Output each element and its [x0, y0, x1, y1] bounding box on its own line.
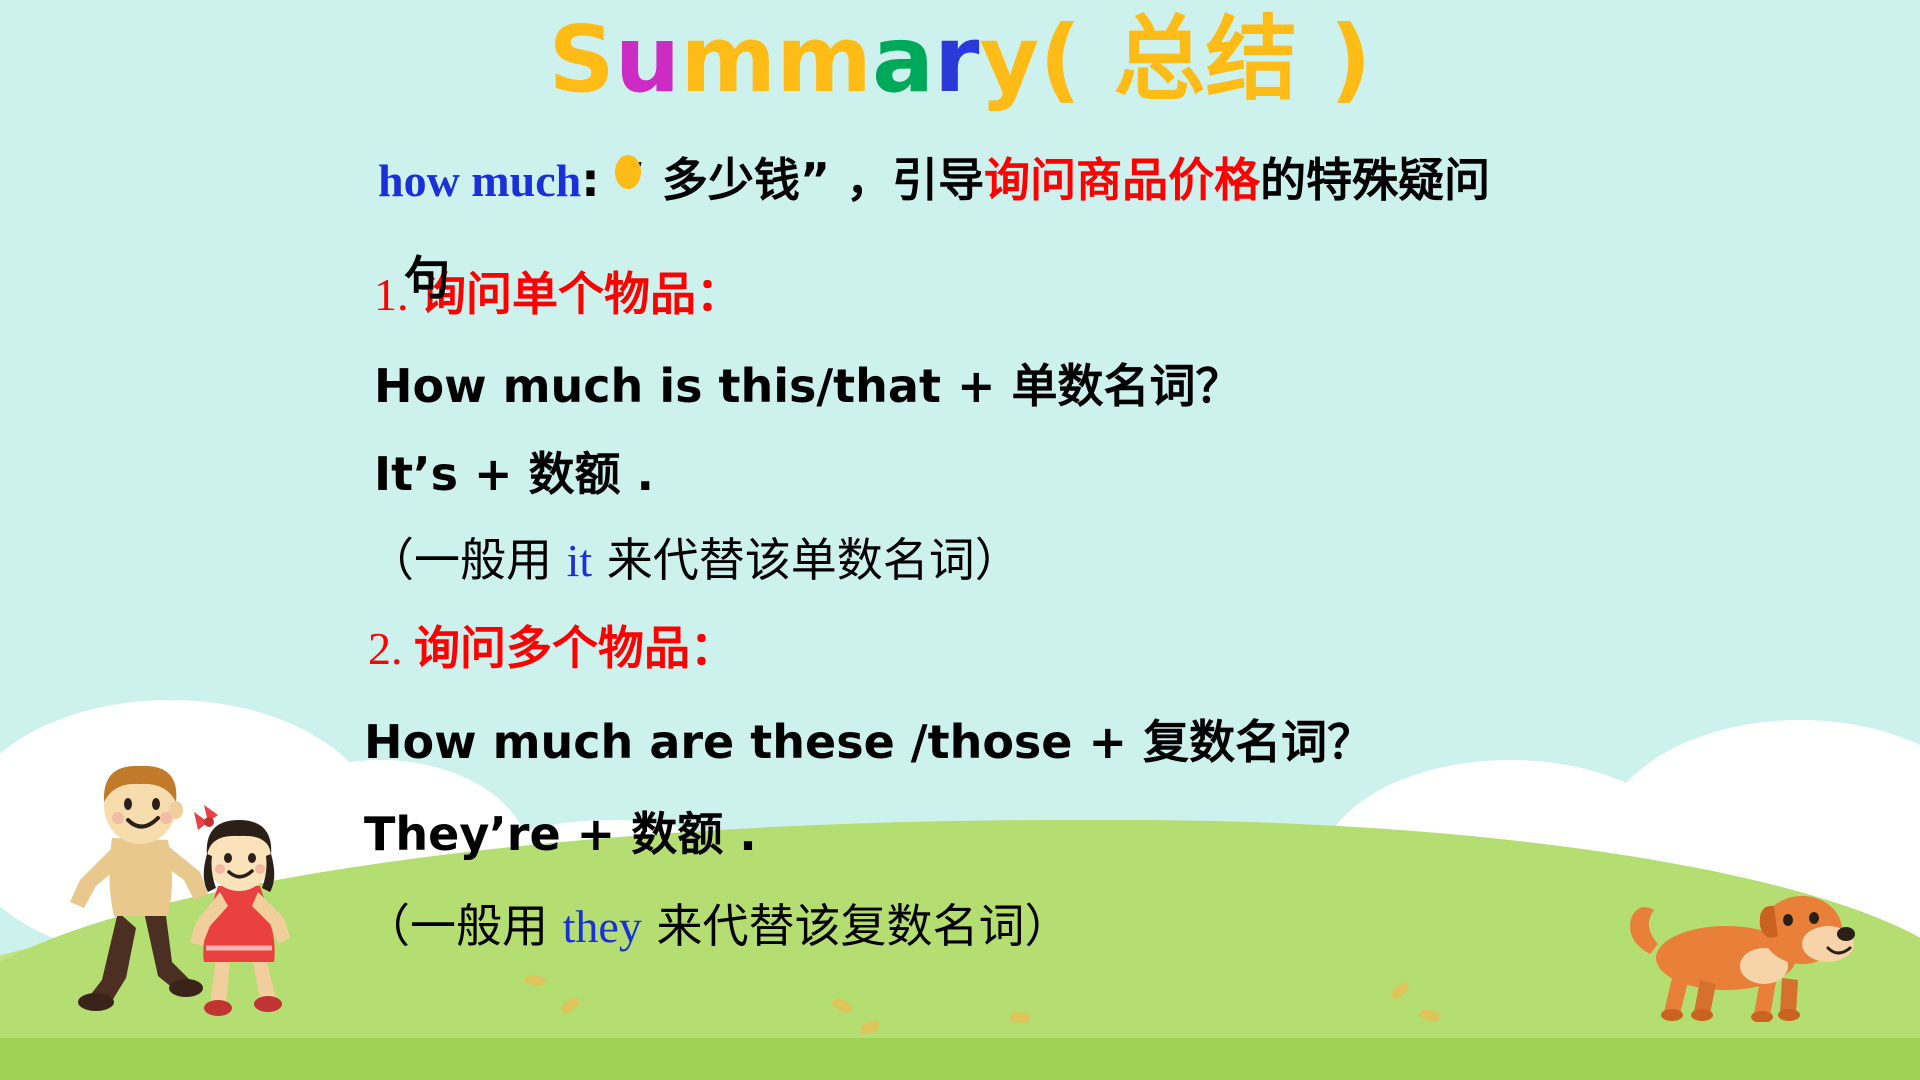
text-run-2: 来代替该复数名词）: [642, 899, 1071, 953]
presentation-slide: Summary( 总结 ) how much: “ 多少钱” ，引导询问商品价格…: [0, 0, 1920, 1080]
cartoon-dog-illustration: [1622, 882, 1862, 1022]
text-line-singular-note: （一般用 it 来代替该单数名词）: [368, 524, 1021, 590]
text-run-0: （一般用: [364, 899, 563, 953]
text-run-4: 询问商品价格: [984, 153, 1260, 207]
text-run-1: 询问多个物品：: [414, 621, 736, 675]
text-run-1: it: [567, 535, 593, 586]
text-line-singular-question: How much is this/that + 单数名词？: [374, 350, 1242, 416]
text-run-0: 句: [404, 251, 450, 305]
text-run-0: It’s + 数额 .: [374, 447, 654, 501]
text-line-how-much-definition: how much: “ 多少钱” ，引导询问商品价格的特殊疑问: [378, 152, 1490, 209]
text-line-how-much-wrap: 句: [404, 242, 450, 308]
text-line-plural-question: How much are these /those + 复数名词？: [364, 706, 1373, 772]
text-run-1: 询问单个物品：: [420, 267, 742, 321]
text-line-section-2-heading: 2. 询问多个物品：: [368, 612, 736, 678]
text-run-1: they: [563, 901, 642, 952]
cartoon-boy: [70, 766, 208, 1011]
text-line-plural-note: （一般用 they 来代替该复数名词）: [364, 890, 1070, 956]
cartoon-kids-illustration: [40, 762, 360, 1022]
text-line-plural-answer: They’re + 数额 .: [364, 798, 757, 864]
text-run-0: They’re + 数额 .: [364, 807, 757, 861]
text-run-2: 多少钱”: [662, 153, 830, 207]
amber-dot-artifact: [615, 155, 641, 189]
text-run-0: （一般用: [368, 533, 567, 587]
text-run-0: How much is this/that + 单数名词？: [374, 359, 1242, 413]
cartoon-girl: [190, 805, 290, 1016]
text-run-5: 的特殊疑问: [1260, 153, 1490, 207]
text-run-0: how much: [378, 155, 581, 206]
text-run-2: 来代替该单数名词）: [592, 533, 1021, 587]
text-run-0: How much are these /those + 复数名词？: [364, 715, 1373, 769]
text-run-3: ，引导: [830, 153, 984, 207]
text-line-singular-answer: It’s + 数额 .: [374, 438, 654, 504]
text-run-0: 2.: [368, 623, 414, 674]
